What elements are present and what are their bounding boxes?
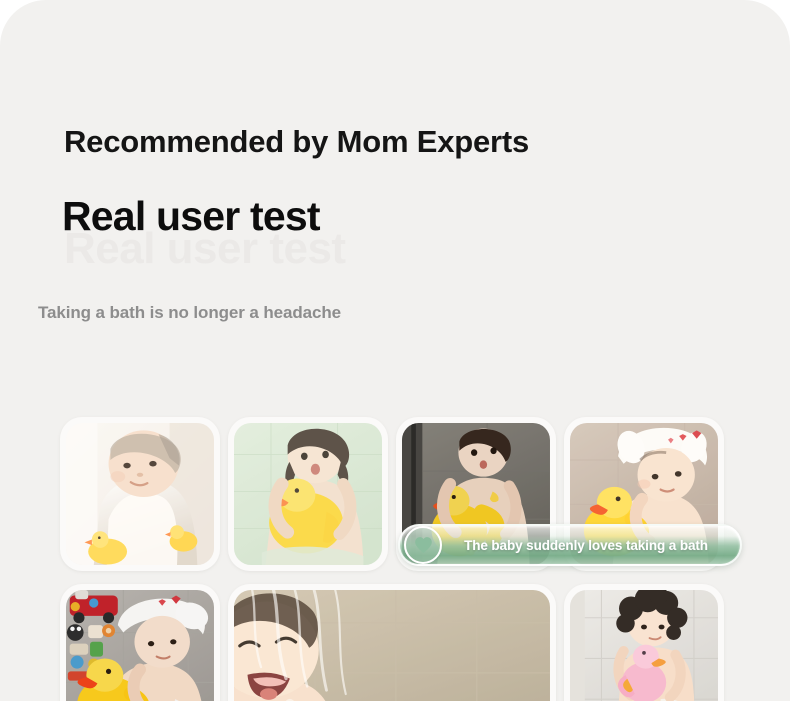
- gallery-thumb[interactable]: [60, 417, 220, 571]
- gallery-row: [60, 584, 744, 701]
- heart-icon: [404, 526, 442, 564]
- gallery-thumb[interactable]: [564, 584, 724, 701]
- page-tagline: Taking a bath is no longer a headache: [38, 303, 341, 323]
- photo-splash-water: [234, 590, 550, 701]
- page-eyebrow-title: Recommended by Mom Experts: [64, 124, 529, 160]
- gallery-photo: [66, 590, 214, 701]
- gallery-thumb[interactable]: [60, 584, 220, 701]
- gallery-thumb[interactable]: [228, 417, 388, 571]
- page-title-group: Real user test Real user test: [62, 193, 682, 273]
- highlight-badge-label: The baby suddenly loves taking a bath: [442, 538, 740, 553]
- gallery-thumb[interactable]: [228, 584, 556, 701]
- photo-towel-baby: [66, 423, 214, 565]
- gallery-photo: [234, 590, 550, 701]
- photo-green-bath-duck: [234, 423, 382, 565]
- gallery-photo: [570, 590, 718, 701]
- gallery-photo: [234, 423, 382, 565]
- content-card: Recommended by Mom Experts Real user tes…: [0, 0, 790, 701]
- highlight-badge[interactable]: The baby suddenly loves taking a bath: [398, 524, 742, 566]
- photo-toys-shelf-duck: [66, 590, 214, 701]
- photo-pink-duck-shower: [570, 590, 718, 701]
- page-title: Real user test: [62, 193, 320, 240]
- gallery-photo: [66, 423, 214, 565]
